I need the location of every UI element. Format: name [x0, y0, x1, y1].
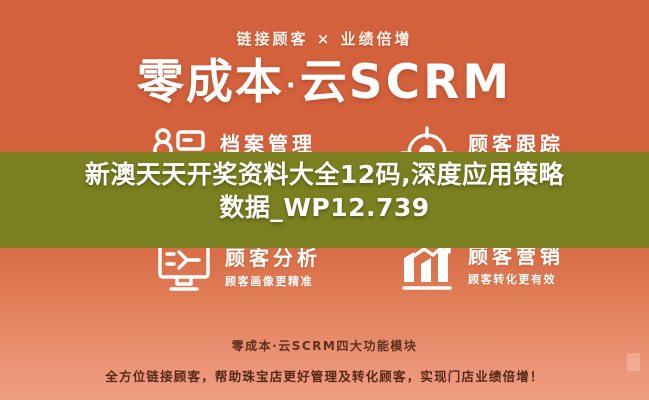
brand-name-cn: 零成本 — [137, 55, 284, 110]
promo-banner: 链接顾客 × 业绩倍增 零成本·云SCRM 档案管理 顾客信息更全面 — [0, 0, 649, 400]
caption-modules: 零成本·云SCRM四大功能模块 — [0, 337, 649, 354]
watermark-artifact — [627, 353, 640, 371]
feature-text-analysis: 顾客分析 顾客画像更精准 — [225, 244, 321, 291]
caption-description: 全方位链接顾客，帮助珠宝店更好管理及转化顾客，实现门店业绩倍增！ — [0, 366, 649, 385]
overlay-headline-line2: 数据_WP12.739 — [18, 191, 631, 224]
brand-separator-dot: · — [284, 71, 300, 101]
feature-text-marketing: 顾客营销 顾客转化更有效 — [468, 242, 564, 289]
overlay-headline: 新澳天天开奖资料大全12码,深度应用策略 数据_WP12.739 — [0, 158, 649, 224]
feature-subtitle: 顾客画像更精准 — [225, 273, 321, 291]
brand-cloud-char: 云 — [300, 55, 349, 110]
brand-name-en: SCRM — [349, 55, 512, 110]
overlay-headline-line1: 新澳天天开奖资料大全12码,深度应用策略 — [18, 158, 631, 191]
banner-brand-title: 零成本·云SCRM — [0, 57, 649, 112]
feature-title: 顾客分析 — [225, 246, 321, 270]
banner-tagline: 链接顾客 × 业绩倍增 — [0, 28, 649, 49]
feature-subtitle: 顾客转化更有效 — [468, 271, 564, 289]
